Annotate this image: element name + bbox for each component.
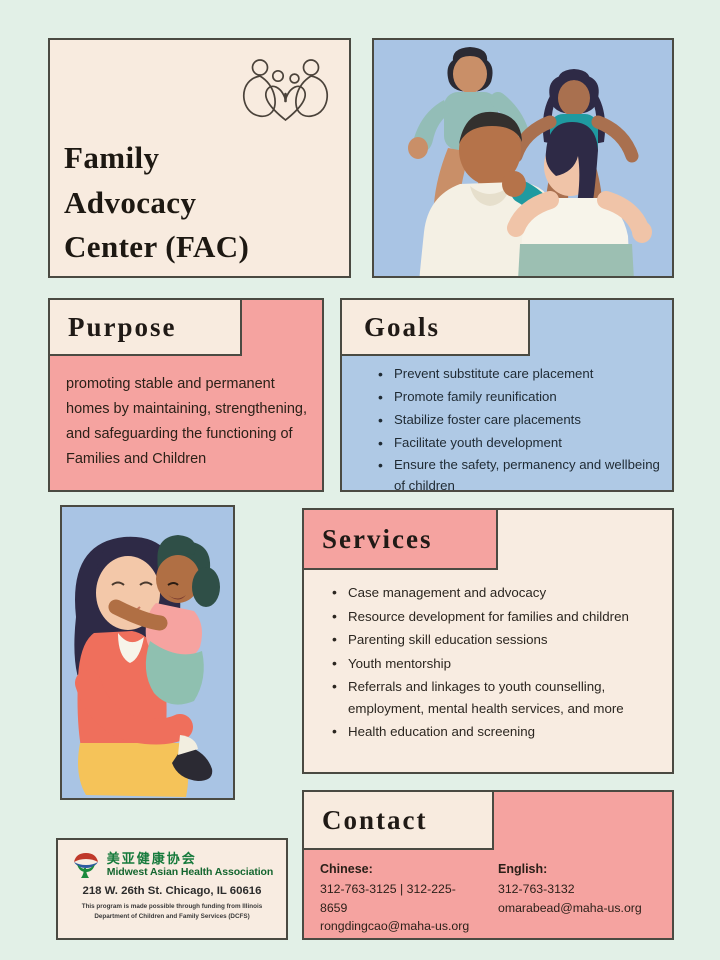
org-funding-note: This program is made possible through fu… <box>58 902 286 922</box>
list-item: Resource development for families and ch… <box>332 606 656 628</box>
page-title-line: Family <box>64 136 341 181</box>
goals-heading: Goals <box>342 312 440 343</box>
contact-card: Contact Chinese:312-763-3125 | 312-225-8… <box>302 790 674 940</box>
list-item: Stabilize foster care placements <box>378 410 660 431</box>
contact-heading: Contact <box>304 805 427 836</box>
purpose-body-text: promoting stable and permanent homes by … <box>66 372 308 472</box>
poster-canvas: FamilyAdvocacyCenter (FAC) <box>0 0 720 960</box>
goals-heading-tab: Goals <box>340 298 530 356</box>
services-heading: Services <box>304 524 432 555</box>
contact-column: English:312-763-3132omarabead@maha-us.or… <box>498 862 660 936</box>
contact-columns: Chinese:312-763-3125 | 312-225-8659rongd… <box>320 862 660 936</box>
list-item: Promote family reunification <box>378 387 660 408</box>
contact-email[interactable]: omarabead@maha-us.org <box>498 899 660 918</box>
services-list: Case management and advocacyResource dev… <box>332 582 656 745</box>
organization-footer-card: 美亚健康协会 Midwest Asian Health Association … <box>56 838 288 940</box>
page-title-line: Center (FAC) <box>64 225 341 270</box>
contact-column: Chinese:312-763-3125 | 312-225-8659rongd… <box>320 862 482 936</box>
list-item: Prevent substitute care placement <box>378 364 660 385</box>
logo-row: 美亚健康协会 Midwest Asian Health Association <box>58 840 286 880</box>
title-card: FamilyAdvocacyCenter (FAC) <box>48 38 351 278</box>
list-item: Referrals and linkages to youth counsell… <box>332 676 656 719</box>
family-heart-icon <box>237 54 333 126</box>
page-title-line: Advocacy <box>64 181 341 226</box>
contact-language-label: Chinese: <box>320 862 482 876</box>
maha-tree-logo <box>71 850 101 880</box>
purpose-heading: Purpose <box>50 312 177 343</box>
list-item: Facilitate youth development <box>378 433 660 454</box>
contact-heading-tab: Contact <box>302 790 494 850</box>
org-name-english: Midwest Asian Health Association <box>107 866 273 879</box>
list-item: Youth mentorship <box>332 653 656 675</box>
family-piggyback-illustration <box>372 38 674 278</box>
mother-holding-child-illustration <box>60 505 235 800</box>
list-item: Health education and screening <box>332 721 656 743</box>
list-item: Ensure the safety, permanency and wellbe… <box>378 455 660 497</box>
organization-names: 美亚健康协会 Midwest Asian Health Association <box>107 852 273 879</box>
purpose-heading-tab: Purpose <box>48 298 242 356</box>
contact-language-label: English: <box>498 862 660 876</box>
list-item: Case management and advocacy <box>332 582 656 604</box>
services-heading-tab: Services <box>302 508 498 570</box>
org-address: 218 W. 26th St. Chicago, IL 60616 <box>58 885 286 897</box>
contact-phone[interactable]: 312-763-3132 <box>498 880 660 899</box>
goals-list: Prevent substitute care placementPromote… <box>378 364 660 499</box>
contact-email[interactable]: rongdingcao@maha-us.org <box>320 917 482 936</box>
org-name-chinese: 美亚健康协会 <box>107 852 273 866</box>
list-item: Parenting skill education sessions <box>332 629 656 651</box>
services-card: Services Case management and advocacyRes… <box>302 508 674 774</box>
goals-card: Goals Prevent substitute care placementP… <box>340 298 674 492</box>
page-title: FamilyAdvocacyCenter (FAC) <box>64 136 341 270</box>
contact-phone[interactable]: 312-763-3125 | 312-225-8659 <box>320 880 482 917</box>
purpose-card: Purpose promoting stable and permanent h… <box>48 298 324 492</box>
